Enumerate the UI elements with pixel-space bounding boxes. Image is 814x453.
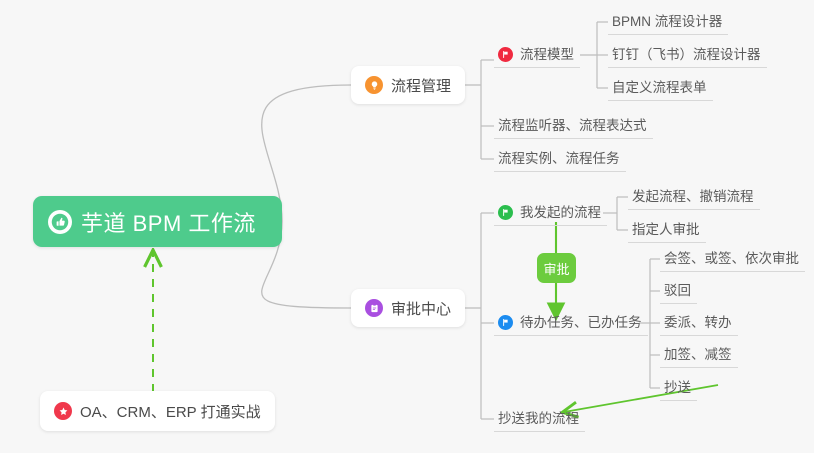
node-delegate-transfer[interactable]: 委派、转办: [660, 310, 738, 336]
node-reject[interactable]: 驳回: [660, 278, 697, 304]
node-countersign-approval[interactable]: 会签、或签、依次审批: [660, 246, 805, 272]
node-process-instance[interactable]: 流程实例、流程任务: [494, 146, 626, 172]
node-label-reject: 驳回: [664, 284, 691, 298]
node-label-process-model: 流程模型: [520, 48, 574, 62]
root-label: 芋道 BPM 工作流: [81, 206, 256, 238]
node-cc[interactable]: 抄送: [660, 375, 697, 401]
thumbs-up-icon: [48, 210, 72, 234]
node-label-custom-process-form: 自定义流程表单: [612, 81, 707, 95]
node-label-countersign-approval: 会签、或签、依次审批: [664, 252, 799, 266]
node-label-my-initiated-process: 我发起的流程: [520, 206, 601, 220]
approval-tag-label: 审批: [543, 259, 569, 278]
node-label-process-instance: 流程实例、流程任务: [498, 152, 620, 166]
branch-label-approval-center: 审批中心: [391, 298, 451, 319]
node-label-process-listener: 流程监听器、流程表达式: [498, 119, 647, 133]
node-label-todo-done-tasks: 待办任务、已办任务: [520, 316, 642, 330]
star-icon: [54, 402, 72, 420]
approval-tag[interactable]: 审批: [537, 253, 576, 283]
node-dingtalk-feishu-designer[interactable]: 钉钉（飞书）流程设计器: [608, 42, 767, 68]
node-start-cancel-process[interactable]: 发起流程、撤销流程: [628, 184, 760, 210]
node-add-remove-sign[interactable]: 加签、减签: [660, 342, 738, 368]
lightbulb-icon: [365, 76, 383, 94]
node-label-dingtalk-feishu-designer: 钉钉（飞书）流程设计器: [612, 48, 761, 62]
node-bpmn-designer[interactable]: BPMN 流程设计器: [608, 9, 728, 35]
branch-label-process-management: 流程管理: [391, 75, 451, 96]
mindmap-canvas: 芋道 BPM 工作流 流程管理 流程模型 BPMN 流程设计器 钉钉（飞书）流程…: [0, 0, 814, 453]
flag-icon: [498, 315, 513, 330]
node-process-listener[interactable]: 流程监听器、流程表达式: [494, 113, 653, 139]
node-label-delegate-transfer: 委派、转办: [664, 316, 732, 330]
clipboard-icon: [365, 299, 383, 317]
node-my-initiated-process[interactable]: 我发起的流程: [494, 200, 607, 226]
node-label-bpmn-designer: BPMN 流程设计器: [612, 15, 722, 29]
node-todo-done-tasks[interactable]: 待办任务、已办任务: [494, 310, 648, 336]
node-label-cc-to-me: 抄送我的流程: [498, 412, 579, 426]
branch-node-process-management[interactable]: 流程管理: [351, 66, 465, 104]
footnote-label-integration: OA、CRM、ERP 打通实战: [80, 401, 261, 422]
node-label-start-cancel-process: 发起流程、撤销流程: [632, 190, 754, 204]
flag-icon: [498, 47, 513, 62]
flag-icon: [498, 205, 513, 220]
node-label-cc: 抄送: [664, 381, 691, 395]
node-label-assignee-approval: 指定人审批: [632, 223, 700, 237]
node-custom-process-form[interactable]: 自定义流程表单: [608, 75, 713, 101]
footnote-node-integration[interactable]: OA、CRM、ERP 打通实战: [40, 391, 275, 431]
branch-node-approval-center[interactable]: 审批中心: [351, 289, 465, 327]
node-assignee-approval[interactable]: 指定人审批: [628, 217, 706, 243]
node-cc-to-me[interactable]: 抄送我的流程: [494, 406, 585, 432]
root-node[interactable]: 芋道 BPM 工作流: [33, 196, 282, 247]
node-process-model[interactable]: 流程模型: [494, 42, 580, 68]
node-label-add-remove-sign: 加签、减签: [664, 348, 732, 362]
